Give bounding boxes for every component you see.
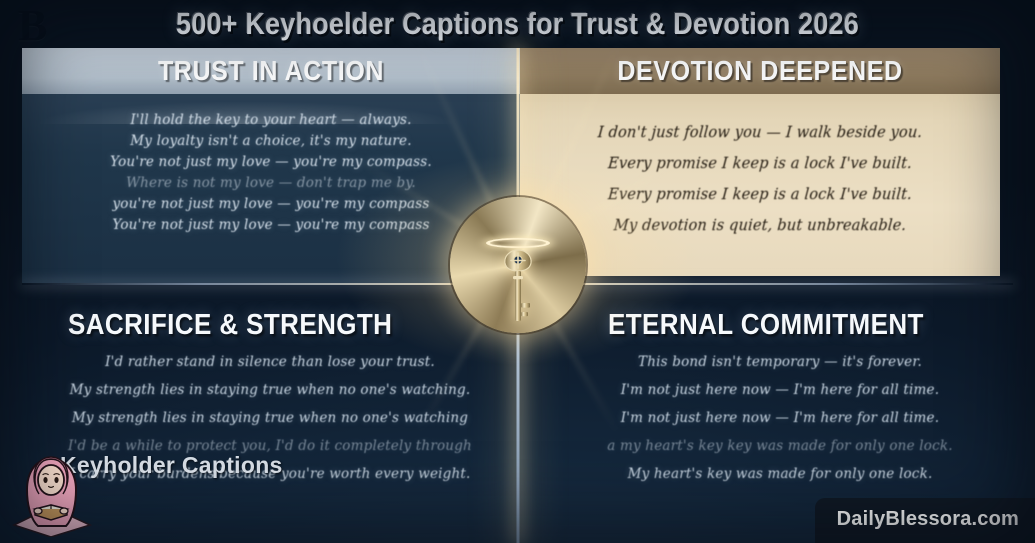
quadrant-heading-sacrifice-and-strength: SACRIFICE & STRENGTH <box>68 307 392 342</box>
caption-line: I don't just follow you — I walk beside … <box>519 117 1002 150</box>
quadrant-heading-trust-in-action: TRUST IN ACTION <box>158 55 384 87</box>
key-medallion <box>450 197 586 333</box>
caption-line: Where is not my love — don't trap me by. <box>22 172 520 194</box>
captions-devotion-deepened: I don't just follow you — I walk beside … <box>520 118 1000 242</box>
footer-domain-badge: DailyBlessora.com <box>815 498 1035 543</box>
caption-line: My devotion is quiet, but unbreakable. <box>519 210 1002 243</box>
captions-trust-in-action: I'll hold the key to your heart — always… <box>22 110 520 236</box>
heading-strip-devotion-deepened: DEVOTION DEEPENED <box>520 48 1000 94</box>
captions-eternal-commitment: This bond isn't temporary — it's forever… <box>540 348 1020 488</box>
caption-line: I'm not just here now — I'm here for all… <box>540 375 1020 404</box>
caption-line: This bond isn't temporary — it's forever… <box>540 347 1020 376</box>
caption-line: My loyalty isn't a choice, it's my natur… <box>22 130 520 152</box>
caption-line: My strength lies in staying true when no… <box>20 403 520 432</box>
caption-line: You're not just my love — you're my comp… <box>22 151 520 173</box>
caption-line: I'd rather stand in silence than lose yo… <box>20 347 520 376</box>
caption-line: My strength lies in staying true when no… <box>20 375 520 404</box>
heading-strip-trust-in-action: TRUST IN ACTION <box>22 48 520 94</box>
hijab-girl-reading-avatar <box>8 445 94 537</box>
caption-line: Every promise I keep is a lock I've buil… <box>519 179 1002 212</box>
ornate-key-icon <box>501 247 535 327</box>
caption-line: you're not just my love — you're my comp… <box>22 193 520 215</box>
caption-line: Every promise I keep is a lock I've buil… <box>519 148 1002 181</box>
caption-line: My heart's key was made for only one loc… <box>540 459 1020 488</box>
page-title: 500+ Keyhoelder Captions for Trust & Dev… <box>176 7 859 42</box>
footer-domain-text: DailyBlessora.com <box>837 508 1019 530</box>
quadrant-heading-devotion-deepened: DEVOTION DEEPENED <box>617 55 902 87</box>
poster-canvas: B 500+ Keyhoelder Captions for Trust & D… <box>0 0 1035 543</box>
caption-line: You're not just my love — you're my comp… <box>22 214 520 236</box>
title-bar: 500+ Keyhoelder Captions for Trust & Dev… <box>0 0 1035 48</box>
caption-line: a my heart's key key was made for only o… <box>540 431 1020 460</box>
quadrant-heading-eternal-commitment: ETERNAL COMMITMENT <box>608 307 924 342</box>
caption-line: I'm not just here now — I'm here for all… <box>540 403 1020 432</box>
caption-line: I'll hold the key to your heart — always… <box>22 109 520 131</box>
